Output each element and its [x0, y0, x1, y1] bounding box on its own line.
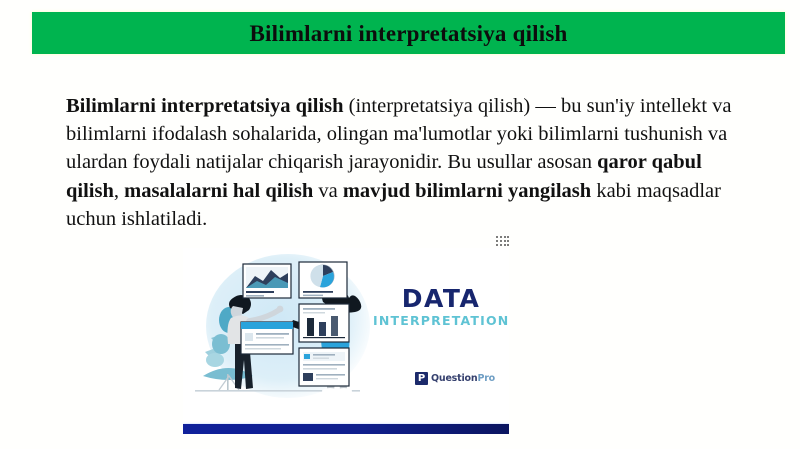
body-paragraph: Bilimlarni interpretatsiya qilish (inter… [66, 92, 734, 233]
document-panel [299, 348, 349, 386]
logo-text-suffix: Pro [477, 373, 495, 384]
title-banner: Bilimlarni interpretatsiya qilish [32, 12, 785, 54]
pie-chart-panel [299, 262, 347, 298]
body-segment: masalalarni hal qilish [124, 180, 313, 202]
page-title: Bilimlarni interpretatsiya qilish [250, 22, 568, 45]
body-segment: , [114, 180, 124, 202]
text-card-panel [241, 322, 293, 354]
data-interpretation-illustration: DATA INTERPRETATION P QuestionPro [183, 248, 509, 434]
questionpro-logo-mark-icon: P [415, 372, 428, 385]
slide-canvas: Bilimlarni interpretatsiya qilish Biliml… [0, 0, 800, 449]
body-segment: Bilimlarni interpretatsiya qilish [66, 95, 344, 117]
illustration-bottom-bar [183, 424, 509, 434]
bar-chart-panel [299, 304, 349, 342]
logo-text-main: Question [431, 373, 477, 384]
questionpro-logo-text: QuestionPro [431, 374, 495, 384]
questionpro-logo: P QuestionPro [415, 372, 495, 385]
body-segment: va [313, 180, 343, 202]
area-chart-panel [243, 264, 291, 298]
illustration-scene [183, 248, 509, 416]
body-segment: mavjud bilimlarni yangilash [343, 180, 591, 202]
